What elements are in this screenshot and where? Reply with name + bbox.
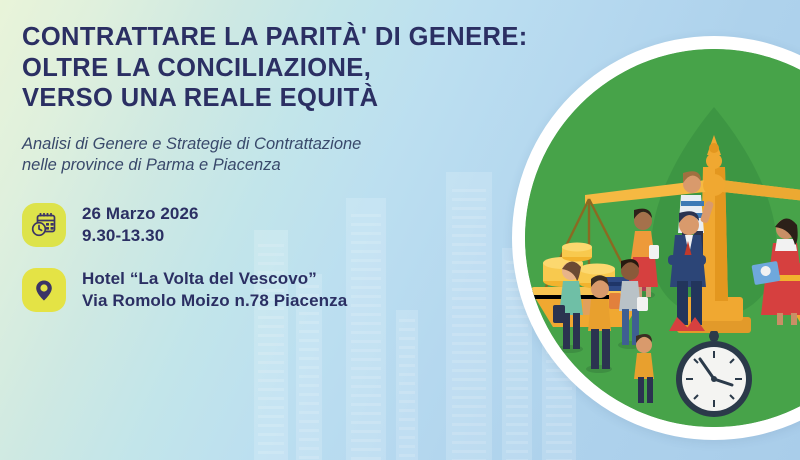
event-details: 26 Marzo 2026 9.30-13.30 Hotel “La Volta… (22, 203, 492, 313)
title-line-2: OLTRE LA CONCILIAZIONE, (22, 53, 492, 84)
title-line-3: VERSO UNA REALE EQUITÀ (22, 83, 492, 114)
location-badge (22, 268, 66, 312)
page-title: CONTRATTARE LA PARITÀ' DI GENERE: OLTRE … (22, 22, 492, 114)
event-datetime-text: 26 Marzo 2026 9.30-13.30 (82, 203, 199, 248)
poster-text-column: CONTRATTARE LA PARITÀ' DI GENERE: OLTRE … (22, 22, 492, 333)
page-subtitle: Analisi di Genere e Strategie di Contrat… (22, 134, 492, 177)
event-datetime-row: 26 Marzo 2026 9.30-13.30 (22, 203, 492, 248)
event-poster: CONTRATTARE LA PARITÀ' DI GENERE: OLTRE … (0, 0, 800, 460)
date-badge (22, 203, 66, 247)
event-venue-row: Hotel “La Volta del Vescovo” Via Romolo … (22, 268, 492, 313)
title-line-1: CONTRATTARE LA PARITÀ' DI GENERE: (22, 22, 492, 53)
venue-address: Via Romolo Moizo n.78 Piacenza (82, 290, 347, 313)
subtitle-line-1: Analisi di Genere e Strategie di Contrat… (22, 134, 492, 155)
illustration-circle (512, 36, 800, 440)
subtitle-line-2: nelle province di Parma e Piacenza (22, 155, 492, 176)
venue-name: Hotel “La Volta del Vescovo” (82, 268, 347, 291)
location-pin-icon (29, 275, 59, 305)
event-date: 26 Marzo 2026 (82, 203, 199, 226)
event-venue-text: Hotel “La Volta del Vescovo” Via Romolo … (82, 268, 347, 313)
calendar-clock-icon (29, 210, 59, 240)
event-time: 9.30-13.30 (82, 225, 199, 248)
